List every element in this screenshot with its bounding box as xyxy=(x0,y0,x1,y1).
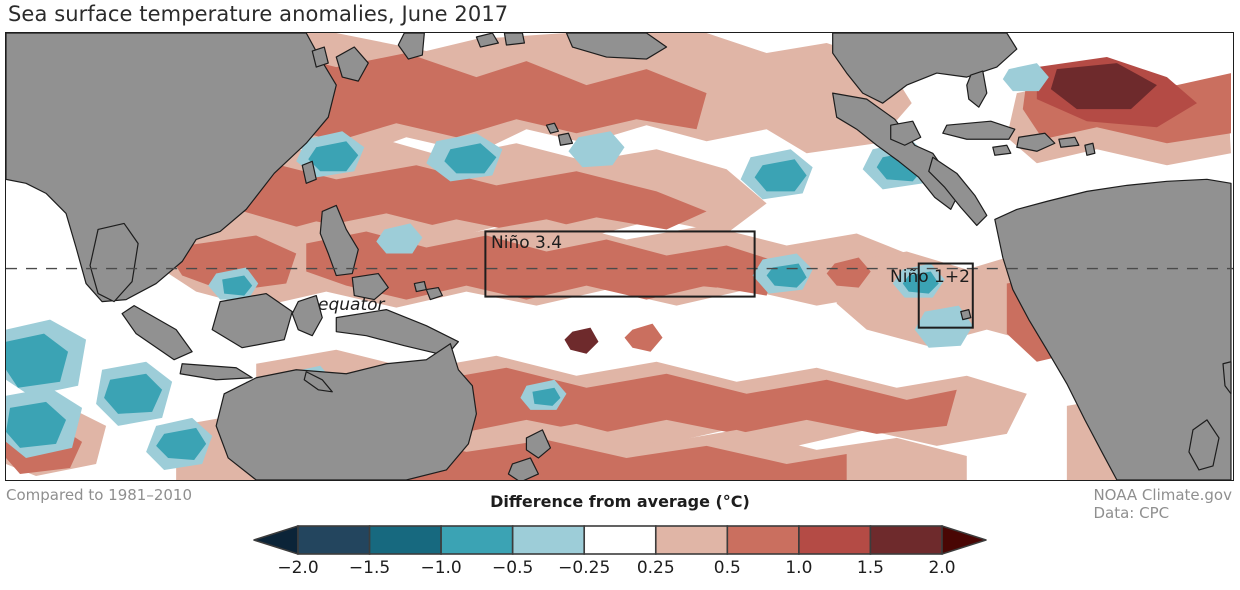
colorbar-tick-label: 1.5 xyxy=(857,558,884,578)
colorbar-swatches xyxy=(252,524,988,556)
puerto-rico xyxy=(1059,137,1079,147)
colorbar-under-arrow xyxy=(254,526,298,554)
colorbar-band xyxy=(727,526,799,554)
colorbar-tick-label: −2.0 xyxy=(277,558,318,578)
colorbar-tick-label: −1.0 xyxy=(420,558,461,578)
pacific-isl-1 xyxy=(414,282,426,292)
lesser-antilles xyxy=(1085,143,1095,155)
colorbar-tick-labels: −2.0−1.5−1.0−0.5−0.250.250.51.01.52.0 xyxy=(252,558,988,584)
sst-anomaly-figure: Sea surface temperature anomalies, June … xyxy=(0,0,1240,590)
colorbar-tick-label: −1.5 xyxy=(349,558,390,578)
colorbar-band xyxy=(513,526,585,554)
colorbar-tick-label: −0.25 xyxy=(558,558,610,578)
nino12-label: Niño 1+2 xyxy=(890,267,970,287)
galapagos xyxy=(961,310,971,320)
colorbar-tick-label: 1.0 xyxy=(785,558,812,578)
map-panel: equator Niño 3.4 Niño 1+2 xyxy=(5,32,1234,481)
colorbar-tick-label: 0.5 xyxy=(714,558,741,578)
colorbar-over-arrow xyxy=(942,526,986,554)
colorbar-band xyxy=(298,526,370,554)
colorbar-band xyxy=(799,526,871,554)
page-title: Sea surface temperature anomalies, June … xyxy=(8,2,508,26)
equator-label: equator xyxy=(318,295,385,315)
colorbar-tick-label: 0.25 xyxy=(637,558,675,578)
colorbar-band xyxy=(656,526,728,554)
colorbar-tick-label: 2.0 xyxy=(928,558,955,578)
colorbar-band-group xyxy=(254,526,986,554)
jamaica xyxy=(993,145,1011,155)
colorbar-band xyxy=(441,526,513,554)
colorbar: −2.0−1.5−1.0−0.5−0.250.250.51.01.52.0 xyxy=(252,524,988,586)
colorbar-band xyxy=(870,526,942,554)
colorbar-tick-label: −0.5 xyxy=(492,558,533,578)
colorbar-title: Difference from average (°C) xyxy=(0,492,1240,511)
nino34-label: Niño 3.4 xyxy=(491,233,562,253)
aleutians-2 xyxy=(504,33,524,45)
sst-anomaly-map xyxy=(6,33,1233,480)
colorbar-band xyxy=(584,526,656,554)
colorbar-band xyxy=(370,526,442,554)
